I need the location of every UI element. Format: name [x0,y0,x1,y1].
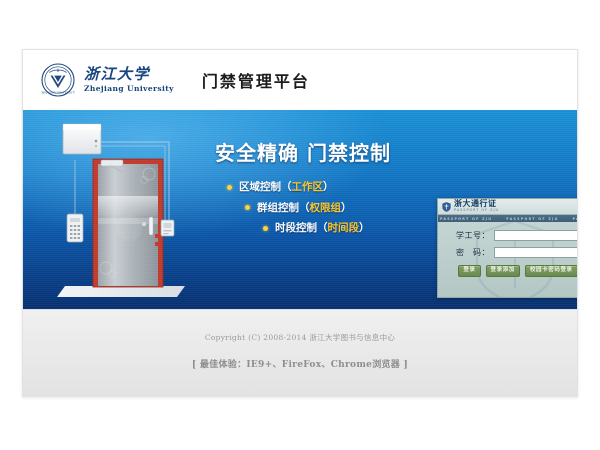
bullet-highlight: 权限组 [310,203,342,214]
zju-logo-cn: 浙江大学 [84,67,174,83]
hero-text-block: 安全精确 门禁控制 区域控制（工作区） 群组控制（权限组） 时段控制（时间段） [215,137,430,244]
passport-band: PASSPORT OF ZJU PASSPORT OF ZJU PASSPORT… [438,215,577,222]
login-panel: 浙大通行证 PASSPORT OF ZJU PASSPORT OF ZJU PA… [437,198,577,298]
zju-logo-en: Zhejiang University [84,84,174,93]
bullet-tail: ） [323,182,334,193]
password-field[interactable] [494,247,577,258]
hero-bullet-list: 区域控制（工作区） 群组控制（权限组） 时段控制（时间段） [215,182,430,234]
zju-seal-icon: ZHEJIANG UNIVERSITY [41,63,75,97]
hero-bullet-item: 时段控制（时间段） [263,223,430,234]
passport-band-text: PASSPORT OF ZJU [440,217,492,221]
login-panel-titlebar: 浙大通行证 PASSPORT OF ZJU [438,199,577,215]
login-panel-title: 浙大通行证 [454,200,499,208]
bullet-highlight: 时间段 [328,223,360,234]
bullet-text: 区域控制（ [239,182,292,193]
bullet-text: 时段控制（ [275,223,328,234]
footer-browser-note: [ 最佳体验：IE9+、FireFox、Chrome浏览器 ] [192,357,408,370]
bullet-tail: ） [359,223,370,234]
passport-band-text: PASSPORT OF ZJU [573,217,577,221]
shield-icon [442,202,451,212]
page-container: ZHEJIANG UNIVERSITY 浙江大学 Zhejiang Univer… [22,49,578,397]
access-control-door-illustration [49,116,209,306]
login-form: 学工号： 密 码： 登录 登录添加 校园卡密码登录 [438,222,577,277]
hero-bullet-item: 区域控制（工作区） [227,182,430,193]
passport-band-text: PASSPORT OF ZJU [506,217,558,221]
bullet-text: 群组控制（ [257,203,310,214]
password-label: 密 码： [446,247,490,258]
password-row: 密 码： [446,247,577,258]
brand-block[interactable]: ZHEJIANG UNIVERSITY 浙江大学 Zhejiang Univer… [41,63,174,97]
login-panel-subtitle: PASSPORT OF ZJU [454,209,499,212]
svg-text:ZHEJIANG UNIVERSITY: ZHEJIANG UNIVERSITY [41,90,75,94]
bullet-dot-icon [227,185,232,190]
bullet-tail: ） [341,203,352,214]
footer-copyright: Copyright (C) 2008-2014 浙江大学图书与信息中心 [205,332,395,343]
campus-card-login-button[interactable]: 校园卡密码登录 [525,265,577,277]
bullet-highlight: 工作区 [292,182,324,193]
page-title: 门禁管理平台 [202,68,310,92]
login-add-button[interactable]: 登录添加 [486,265,520,277]
user-id-field[interactable] [494,230,577,241]
hero-banner: 安全精确 门禁控制 区域控制（工作区） 群组控制（权限组） 时段控制（时间段） [23,110,577,309]
login-button-group: 登录 登录添加 校园卡密码登录 [446,265,577,277]
site-header: ZHEJIANG UNIVERSITY 浙江大学 Zhejiang Univer… [23,50,577,110]
bullet-dot-icon [263,226,268,231]
zju-wordmark: 浙江大学 Zhejiang University [84,67,174,93]
user-id-label: 学工号： [446,230,490,241]
site-footer: Copyright (C) 2008-2014 浙江大学图书与信息中心 [ 最佳… [23,309,577,397]
hero-bullet-item: 群组控制（权限组） [245,203,430,214]
bullet-dot-icon [245,205,250,210]
login-button[interactable]: 登录 [458,265,480,277]
hero-headline: 安全精确 门禁控制 [215,137,430,166]
user-id-row: 学工号： [446,230,577,241]
